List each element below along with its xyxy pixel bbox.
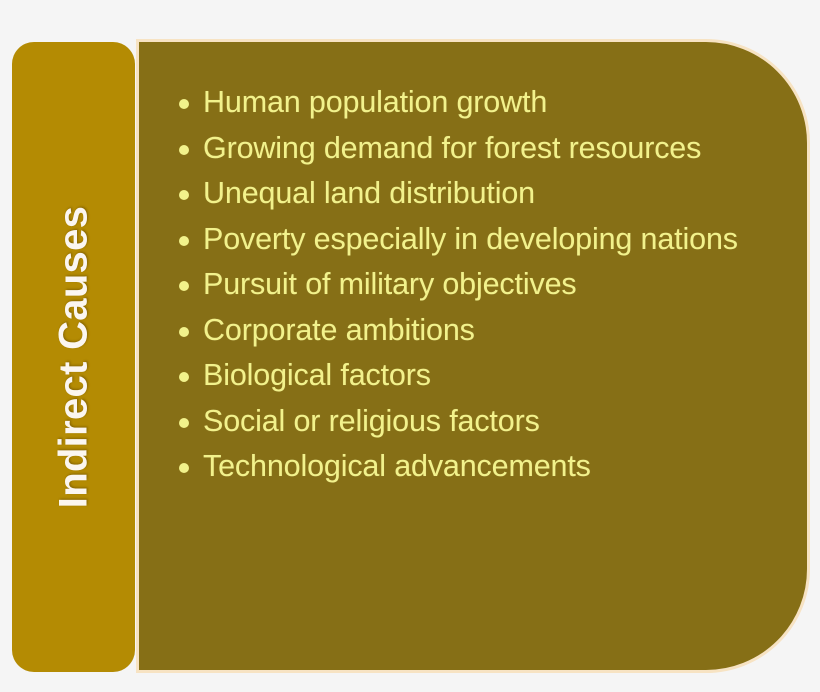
list-item: Growing demand for forest resources: [175, 126, 763, 172]
list-item: Biological factors: [175, 353, 763, 399]
list-item: Human population growth: [175, 80, 763, 126]
category-label-text: Indirect Causes: [51, 206, 96, 508]
list-item: Poverty especially in developing nations: [175, 217, 763, 263]
content-panel: Human population growth Growing demand f…: [136, 39, 810, 673]
causes-bullet-list: Human population growth Growing demand f…: [175, 80, 797, 490]
category-label-tab: Indirect Causes: [12, 42, 135, 672]
list-item: Pursuit of military objectives: [175, 262, 763, 308]
list-item: Social or religious factors: [175, 399, 763, 445]
list-item: Technological advancements: [175, 444, 763, 490]
list-item: Corporate ambitions: [175, 308, 763, 354]
indirect-causes-diagram: Human population growth Growing demand f…: [0, 0, 820, 692]
list-item: Unequal land distribution: [175, 171, 763, 217]
